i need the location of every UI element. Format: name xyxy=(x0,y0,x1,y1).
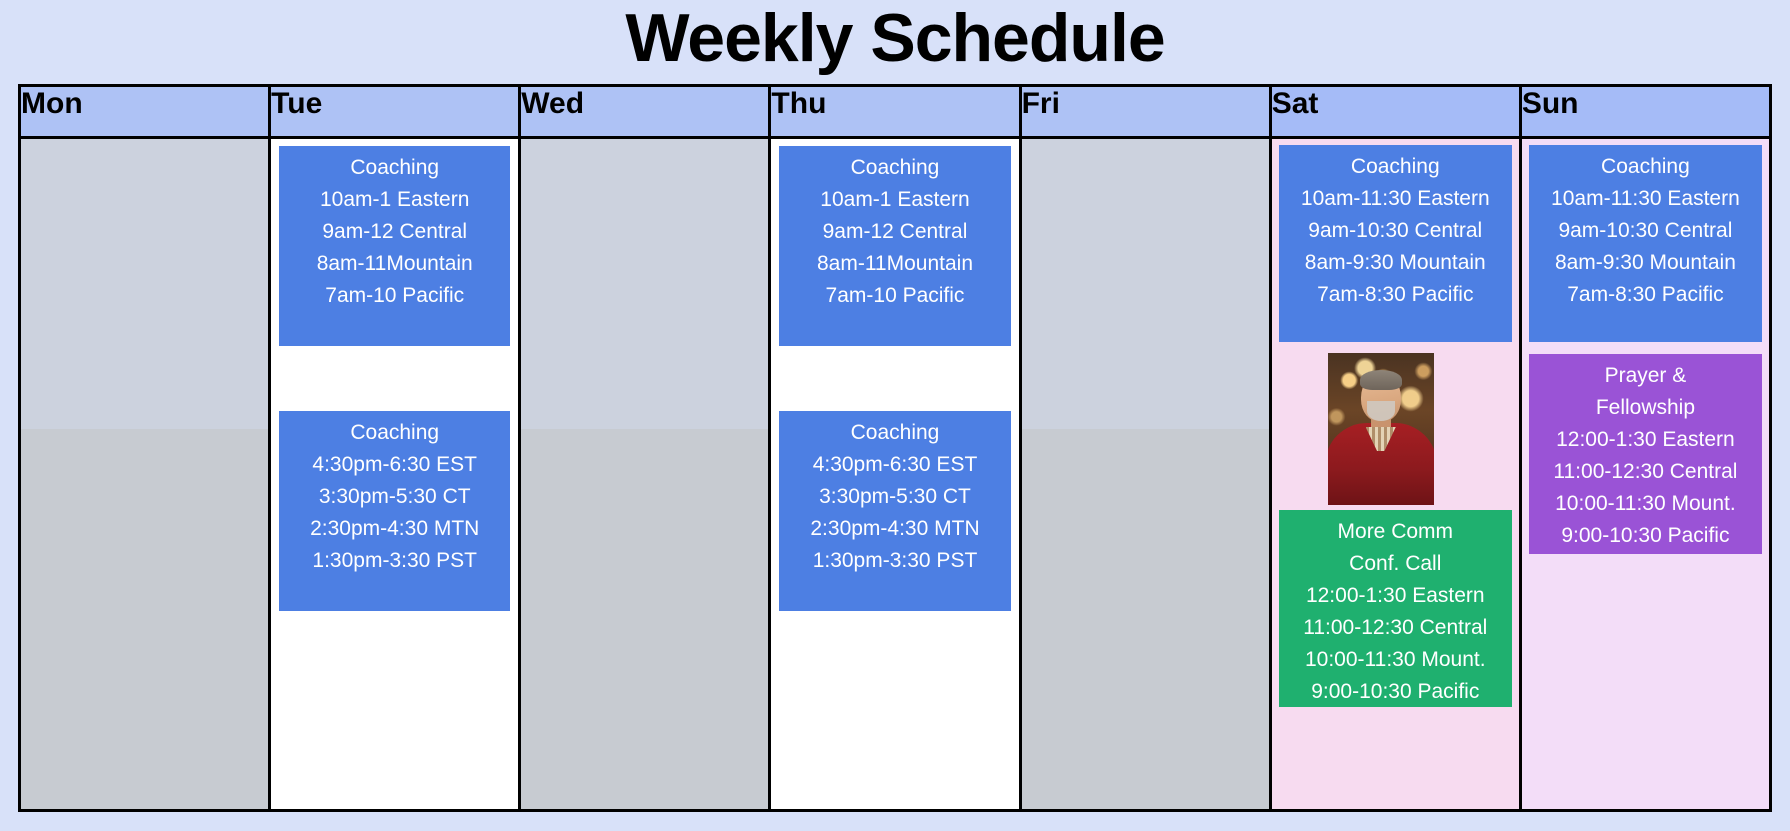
event-sat-more-comm-call[interactable]: More Comm Conf. Call 12:00-1:30 Eastern … xyxy=(1279,510,1512,707)
event-line: 1:30pm-3:30 PST xyxy=(781,545,1008,577)
event-line: 9am-10:30 Central xyxy=(1281,215,1510,247)
day-header-sun: Sun xyxy=(1520,86,1770,138)
day-column-fri xyxy=(1020,138,1270,811)
event-line: 9am-12 Central xyxy=(781,216,1008,248)
event-line: 2:30pm-4:30 MTN xyxy=(781,513,1008,545)
fri-lower-band xyxy=(1022,429,1269,809)
mon-lower-band xyxy=(21,429,268,809)
photo-background xyxy=(1328,353,1434,505)
calendar-container: Mon Tue Wed Thu Fri Sat Sun xyxy=(18,84,1772,812)
event-sun-prayer-fellowship[interactable]: Prayer & Fellowship 12:00-1:30 Eastern 1… xyxy=(1529,354,1762,554)
day-header-sat: Sat xyxy=(1270,86,1520,138)
event-line: 1:30pm-3:30 PST xyxy=(281,545,508,577)
event-line: 7am-8:30 Pacific xyxy=(1531,279,1760,311)
event-line: Coaching xyxy=(781,417,1008,449)
event-line: Fellowship xyxy=(1531,392,1760,424)
event-line: Coaching xyxy=(1281,151,1510,183)
event-sun-morning-coaching[interactable]: Coaching 10am-11:30 Eastern 9am-10:30 Ce… xyxy=(1529,145,1762,342)
event-line: 10:00-11:30 Mount. xyxy=(1531,488,1760,520)
event-line: Coaching xyxy=(281,152,508,184)
event-line: Coaching xyxy=(781,152,1008,184)
weekly-schedule-table: Mon Tue Wed Thu Fri Sat Sun xyxy=(18,84,1772,812)
event-sat-morning-coaching[interactable]: Coaching 10am-11:30 Eastern 9am-10:30 Ce… xyxy=(1279,145,1512,342)
event-line: 11:00-12:30 Central xyxy=(1281,612,1510,644)
event-line: 10am-11:30 Eastern xyxy=(1281,183,1510,215)
event-line: 7am-10 Pacific xyxy=(281,280,508,312)
day-body-row: Coaching 10am-1 Eastern 9am-12 Central 8… xyxy=(20,138,1771,811)
event-line: 10am-1 Eastern xyxy=(781,184,1008,216)
day-header-thu: Thu xyxy=(770,86,1020,138)
page-title: Weekly Schedule xyxy=(0,0,1790,82)
wed-lower-band xyxy=(521,429,768,809)
day-column-mon xyxy=(20,138,270,811)
event-line: 11:00-12:30 Central xyxy=(1531,456,1760,488)
photo-hair xyxy=(1360,370,1402,390)
day-header-mon: Mon xyxy=(20,86,270,138)
event-line: 8am-9:30 Mountain xyxy=(1281,247,1510,279)
event-line: 9am-10:30 Central xyxy=(1531,215,1760,247)
schedule-page: Weekly Schedule Mon Tue Wed Thu Fri Sat … xyxy=(0,0,1790,831)
day-column-sat: Coaching 10am-11:30 Eastern 9am-10:30 Ce… xyxy=(1270,138,1520,811)
event-line: 3:30pm-5:30 CT xyxy=(781,481,1008,513)
event-line: 9:00-10:30 Pacific xyxy=(1531,520,1760,552)
event-line: Prayer & xyxy=(1531,360,1760,392)
event-line: 9:00-10:30 Pacific xyxy=(1281,676,1510,707)
event-tue-morning-coaching[interactable]: Coaching 10am-1 Eastern 9am-12 Central 8… xyxy=(279,146,510,346)
event-line: 9am-12 Central xyxy=(281,216,508,248)
event-line: More Comm xyxy=(1281,516,1510,548)
event-thu-afternoon-coaching[interactable]: Coaching 4:30pm-6:30 EST 3:30pm-5:30 CT … xyxy=(779,411,1010,611)
event-line: Coaching xyxy=(281,417,508,449)
event-line: 10am-11:30 Eastern xyxy=(1531,183,1760,215)
event-line: 8am-11Mountain xyxy=(281,248,508,280)
photo-beard xyxy=(1367,401,1395,421)
event-line: 2:30pm-4:30 MTN xyxy=(281,513,508,545)
day-header-row: Mon Tue Wed Thu Fri Sat Sun xyxy=(20,86,1771,138)
day-column-wed xyxy=(520,138,770,811)
event-line: Coaching xyxy=(1531,151,1760,183)
event-line: Conf. Call xyxy=(1281,548,1510,580)
day-column-tue: Coaching 10am-1 Eastern 9am-12 Central 8… xyxy=(270,138,520,811)
event-thu-morning-coaching[interactable]: Coaching 10am-1 Eastern 9am-12 Central 8… xyxy=(779,146,1010,346)
day-column-thu: Coaching 10am-1 Eastern 9am-12 Central 8… xyxy=(770,138,1020,811)
event-tue-afternoon-coaching[interactable]: Coaching 4:30pm-6:30 EST 3:30pm-5:30 CT … xyxy=(279,411,510,611)
event-line: 4:30pm-6:30 EST xyxy=(781,449,1008,481)
event-line: 8am-11Mountain xyxy=(781,248,1008,280)
day-header-fri: Fri xyxy=(1020,86,1270,138)
event-line: 7am-8:30 Pacific xyxy=(1281,279,1510,311)
event-line: 10am-1 Eastern xyxy=(281,184,508,216)
event-line: 3:30pm-5:30 CT xyxy=(281,481,508,513)
portrait-photo xyxy=(1328,353,1434,505)
day-column-sun: Coaching 10am-11:30 Eastern 9am-10:30 Ce… xyxy=(1520,138,1770,811)
day-header-tue: Tue xyxy=(270,86,520,138)
event-line: 10:00-11:30 Mount. xyxy=(1281,644,1510,676)
event-line: 12:00-1:30 Eastern xyxy=(1531,424,1760,456)
event-line: 7am-10 Pacific xyxy=(781,280,1008,312)
event-line: 12:00-1:30 Eastern xyxy=(1281,580,1510,612)
event-line: 4:30pm-6:30 EST xyxy=(281,449,508,481)
event-line: 8am-9:30 Mountain xyxy=(1531,247,1760,279)
day-header-wed: Wed xyxy=(520,86,770,138)
